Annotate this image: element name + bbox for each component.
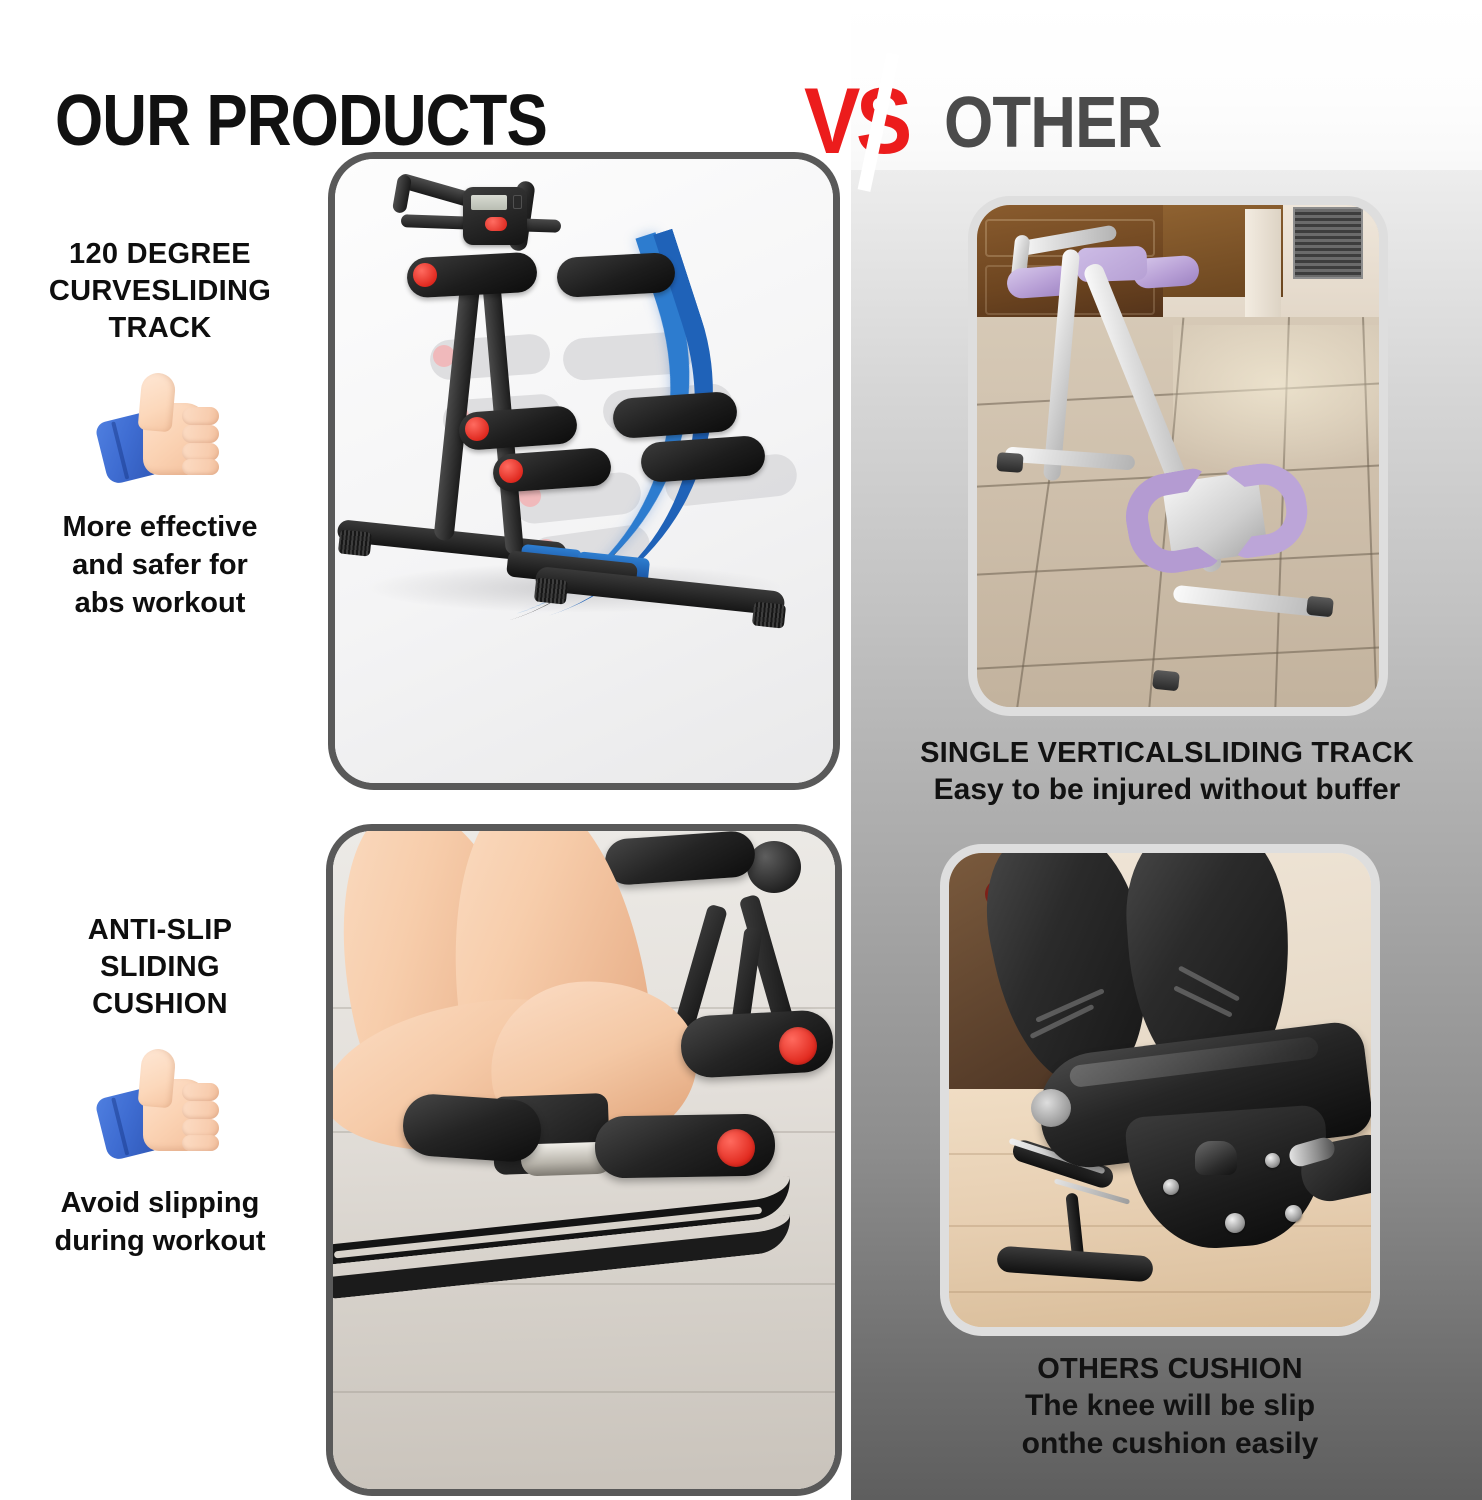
floor-plank-line <box>949 1291 1371 1293</box>
base-end-cap <box>338 529 372 556</box>
screw-icon <box>1285 1205 1302 1222</box>
monitor-red-button <box>485 217 507 231</box>
base-end-cap <box>752 601 786 628</box>
product-photo-image <box>335 159 833 783</box>
floor-plank-line <box>333 1391 835 1393</box>
feature-subtitle-line: More effective <box>4 509 316 547</box>
caption-text-line: The knee will be slip <box>880 1387 1460 1424</box>
photo-competitor-cushion <box>940 844 1380 1336</box>
thumb-finger <box>182 1101 219 1119</box>
photo-competitor-machine <box>968 196 1388 716</box>
thumb-finger <box>182 407 219 425</box>
comparison-infographic: OUR PRODUCTS VS OTHER 120 DEGREE CURVESL… <box>0 0 1482 1500</box>
pivot-pin <box>1195 1141 1237 1175</box>
feature-title-line: TRACK <box>4 310 316 347</box>
feature-title-line: CUSHION <box>4 986 316 1023</box>
header-our-products-title: OUR PRODUCTS <box>55 80 547 162</box>
screw-icon <box>1265 1153 1280 1168</box>
thumb-finger <box>182 1135 219 1151</box>
feature-title: ANTI-SLIP SLIDING CUSHION <box>4 912 316 1023</box>
thumb-finger <box>182 425 219 443</box>
feature-title: 120 DEGREE CURVESLIDING TRACK <box>4 236 316 347</box>
photo-our-anti-slip-cushion <box>326 824 842 1496</box>
base-end-cap <box>534 577 568 604</box>
caption-single-vertical-track: SINGLE VERTICALSLIDING TRACK Easy to be … <box>856 736 1478 809</box>
header-other-title: OTHER <box>944 82 1161 164</box>
screw-icon <box>1163 1179 1179 1195</box>
adjustment-knob <box>747 841 801 893</box>
foam-pad <box>401 1092 543 1163</box>
thumb-up-digit <box>138 1048 177 1109</box>
floor-plank-line <box>949 1225 1371 1227</box>
thumb-up-digit <box>138 372 177 433</box>
pad-red-cap <box>779 1027 817 1065</box>
monitor-side-button <box>513 195 522 209</box>
thumb-finger <box>182 459 219 475</box>
wall-pillar <box>1245 209 1281 321</box>
base-end-cap <box>996 452 1023 473</box>
feature-title-line: ANTI-SLIP <box>4 912 316 949</box>
caption-title: OTHERS CUSHION <box>880 1352 1460 1387</box>
feature-block-anti-slip-cushion: ANTI-SLIP SLIDING CUSHION Avoid slipping… <box>4 912 316 1261</box>
caption-text-line: onthe cushion easily <box>880 1425 1460 1462</box>
feature-subtitle-line: Avoid slipping <box>4 1185 316 1223</box>
photo-our-ab-machine <box>328 152 840 790</box>
feature-title-line: CURVESLIDING <box>4 273 316 310</box>
page-header: OUR PRODUCTS VS OTHER <box>0 34 1482 154</box>
pad-red-cap <box>717 1129 755 1167</box>
thumbs-up-icon <box>99 1049 221 1161</box>
competitor-photo-image <box>977 205 1379 707</box>
sunlight-patch <box>1173 325 1379 475</box>
pad-red-cap <box>413 263 437 287</box>
feature-block-curved-track: 120 DEGREE CURVESLIDING TRACK More effec… <box>4 236 316 622</box>
cushion-end-cap <box>1031 1089 1071 1127</box>
handlebar-left-grip <box>392 174 412 214</box>
monitor-screen <box>471 195 507 210</box>
feature-subtitle: More effective and safer for abs workout <box>4 509 316 622</box>
thumb-finger <box>182 1083 219 1101</box>
caption-text: Easy to be injured without buffer <box>856 771 1478 808</box>
feature-subtitle: Avoid slipping during workout <box>4 1185 316 1260</box>
floor-vent <box>1293 207 1363 279</box>
foam-pad <box>556 252 676 298</box>
feature-subtitle-line: and safer for <box>4 547 316 585</box>
thumbs-up-icon <box>99 373 221 485</box>
feature-subtitle-line: abs workout <box>4 585 316 623</box>
feature-subtitle-line: during workout <box>4 1223 316 1261</box>
pad-red-cap <box>465 417 489 441</box>
product-photo-image <box>333 831 835 1489</box>
foam-pad <box>612 391 738 440</box>
digital-monitor <box>463 187 527 245</box>
feature-title-line: SLIDING <box>4 949 316 986</box>
base-end-cap <box>1152 670 1180 692</box>
screw-icon <box>1225 1213 1245 1233</box>
pad-red-cap <box>499 459 523 483</box>
caption-title: SINGLE VERTICALSLIDING TRACK <box>856 736 1478 771</box>
caption-others-cushion: OTHERS CUSHION The knee will be slip ont… <box>880 1352 1460 1462</box>
feature-title-line: 120 DEGREE <box>4 236 316 273</box>
base-end-cap <box>1306 596 1334 618</box>
competitor-photo-image <box>949 853 1371 1327</box>
